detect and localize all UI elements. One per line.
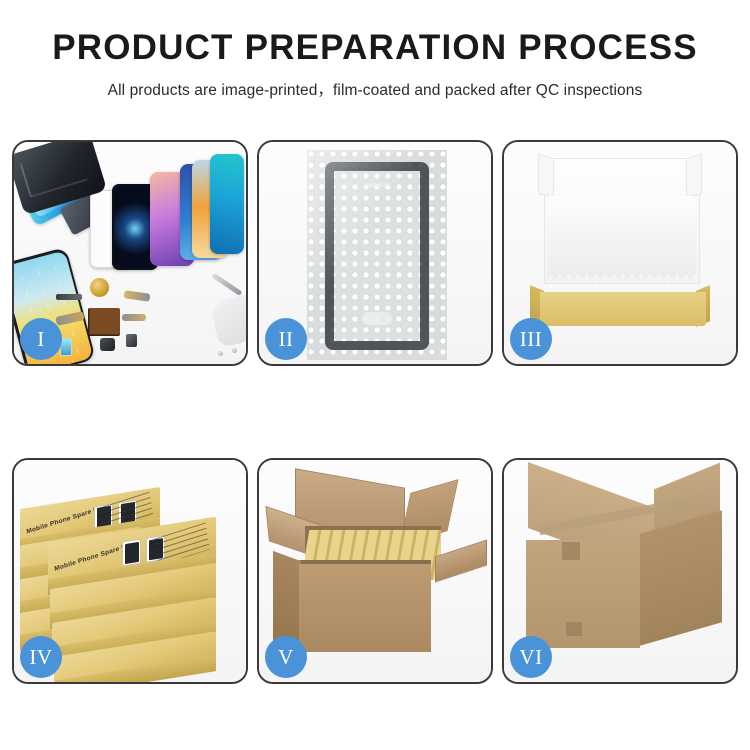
- box-flap-right: [686, 154, 702, 199]
- step-badge-1: I: [20, 318, 62, 360]
- process-step-6: VI: [502, 458, 738, 684]
- sealed-carton-side: [640, 510, 722, 646]
- stacked-box-front-3: [52, 610, 216, 638]
- chip-part: [126, 334, 137, 347]
- tweezers-tool: [212, 273, 243, 296]
- stacked-box-front-2: [50, 576, 216, 604]
- hand-holding-tool: [209, 294, 246, 348]
- carton-flap-right: [435, 540, 487, 583]
- step-badge-2: II: [265, 318, 307, 360]
- earpiece-slot: [364, 183, 390, 187]
- flex-cable-part-3: [122, 314, 146, 321]
- step-badge-3: III: [510, 318, 552, 360]
- box-front-panel: [540, 292, 706, 326]
- stacked-box-front-4: [54, 644, 216, 672]
- flex-cable-part-2: [124, 290, 151, 302]
- home-button-cutout: [362, 312, 392, 325]
- carton-body-front: [299, 564, 431, 652]
- step-badge-5: V: [265, 636, 307, 678]
- process-step-5: V: [257, 458, 493, 684]
- process-step-4: Mobile Phone Spare Parts: [12, 458, 248, 684]
- step-badge-4: IV: [20, 636, 62, 678]
- product-preparation-infographic: PRODUCT PREPARATION PROCESS All products…: [0, 0, 750, 750]
- bubble-wrap-sheet: [307, 150, 447, 360]
- phone-glass-lens: [325, 162, 429, 350]
- copper-coil-part: [90, 278, 109, 297]
- foam-lining: [548, 196, 696, 278]
- box-flap-left: [538, 154, 554, 199]
- step-badge-6: VI: [510, 636, 552, 678]
- page-title: PRODUCT PREPARATION PROCESS: [0, 30, 750, 67]
- process-step-grid: I II: [12, 140, 738, 684]
- box-label-phone-image-1: [122, 539, 141, 567]
- carton-crease-upper: [562, 542, 580, 560]
- shield-plate-part: [88, 308, 120, 336]
- camera-module-part: [100, 338, 115, 351]
- carton-crease-lower: [566, 622, 582, 636]
- header: PRODUCT PREPARATION PROCESS All products…: [0, 0, 750, 100]
- process-step-2: II: [257, 140, 493, 366]
- page-subtitle: All products are image-printed，film-coat…: [0, 78, 750, 100]
- stacked-box-front-1: Mobile Phone Spare Parts: [48, 530, 216, 570]
- speaker-bar-part: [56, 294, 82, 300]
- screw-part-2: [232, 348, 237, 353]
- phone-teal-wave: [210, 154, 244, 254]
- screw-part-3: [218, 351, 223, 356]
- process-step-1: I: [12, 140, 248, 366]
- process-step-3: III: [502, 140, 738, 366]
- sealed-carton-front: [526, 540, 640, 648]
